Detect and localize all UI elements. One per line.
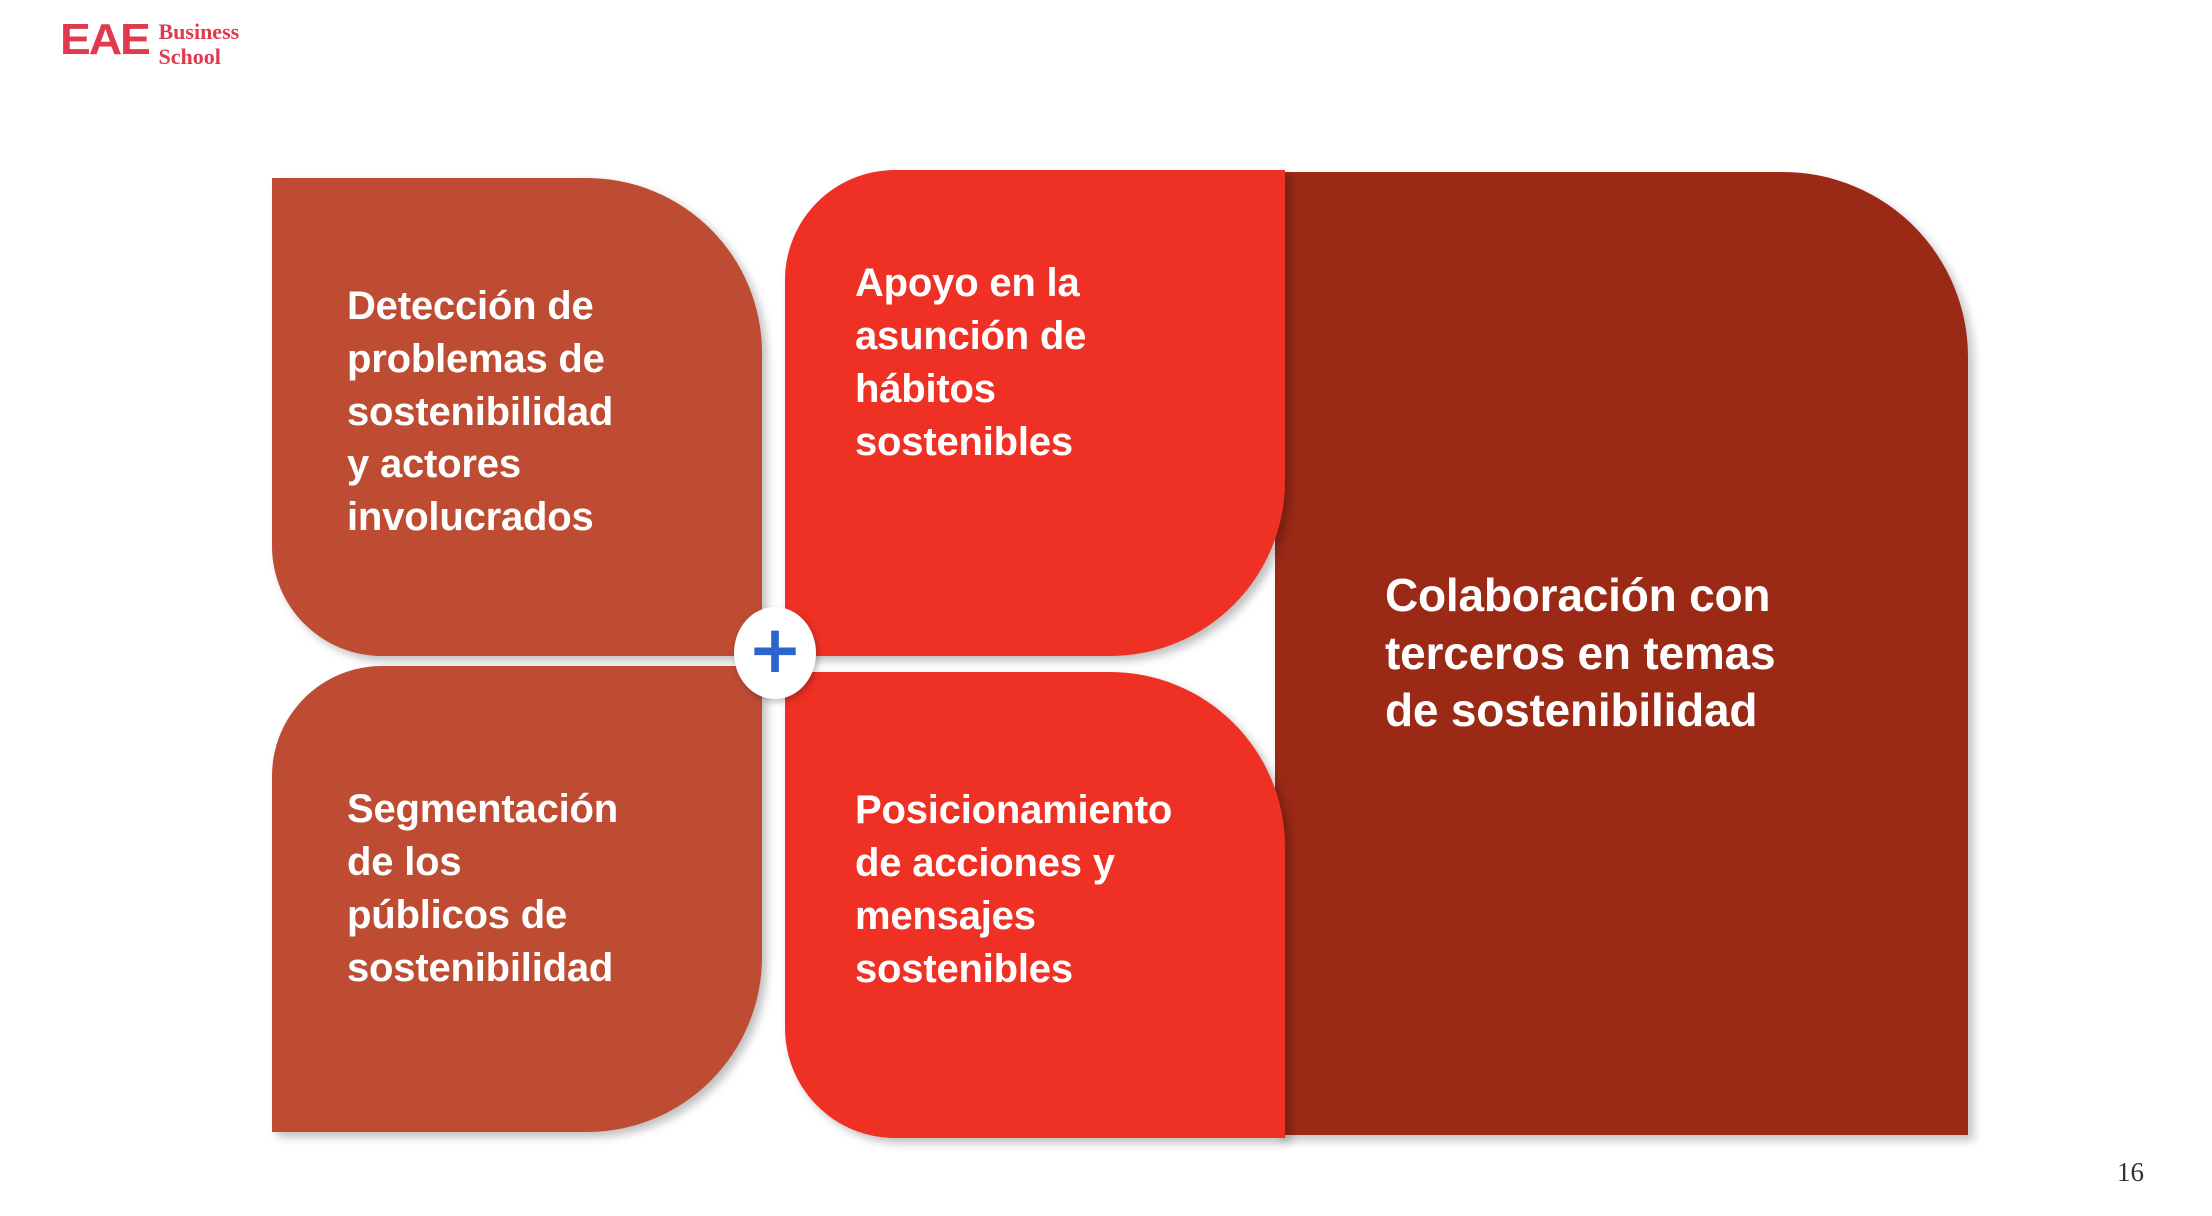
card-action-positioning-label: Posicionamiento de acciones y mensajes s…: [785, 784, 1172, 1025]
card-audience-segmentation[interactable]: Segmentación de los públicos de sostenib…: [272, 666, 762, 1132]
card-problem-detection-label: Detección de problemas de sostenibilidad…: [272, 280, 613, 554]
card-audience-segmentation-label: Segmentación de los públicos de sostenib…: [272, 783, 618, 1014]
panel-collaboration[interactable]: Colaboración con terceros en temas de so…: [1275, 172, 1968, 1135]
card-action-positioning[interactable]: Posicionamiento de acciones y mensajes s…: [785, 672, 1285, 1138]
sustainability-diagram: Colaboración con terceros en temas de so…: [0, 0, 2212, 1216]
card-habit-support-label: Apoyo en la asunción de hábitos sostenib…: [785, 257, 1086, 568]
page-number: 16: [2117, 1157, 2144, 1188]
plus-icon[interactable]: +: [734, 607, 816, 699]
plus-icon-glyph: +: [747, 617, 802, 683]
card-habit-support[interactable]: Apoyo en la asunción de hábitos sostenib…: [785, 170, 1285, 656]
panel-collaboration-label: Colaboración con terceros en temas de so…: [1275, 567, 1775, 740]
card-problem-detection[interactable]: Detección de problemas de sostenibilidad…: [272, 178, 762, 656]
